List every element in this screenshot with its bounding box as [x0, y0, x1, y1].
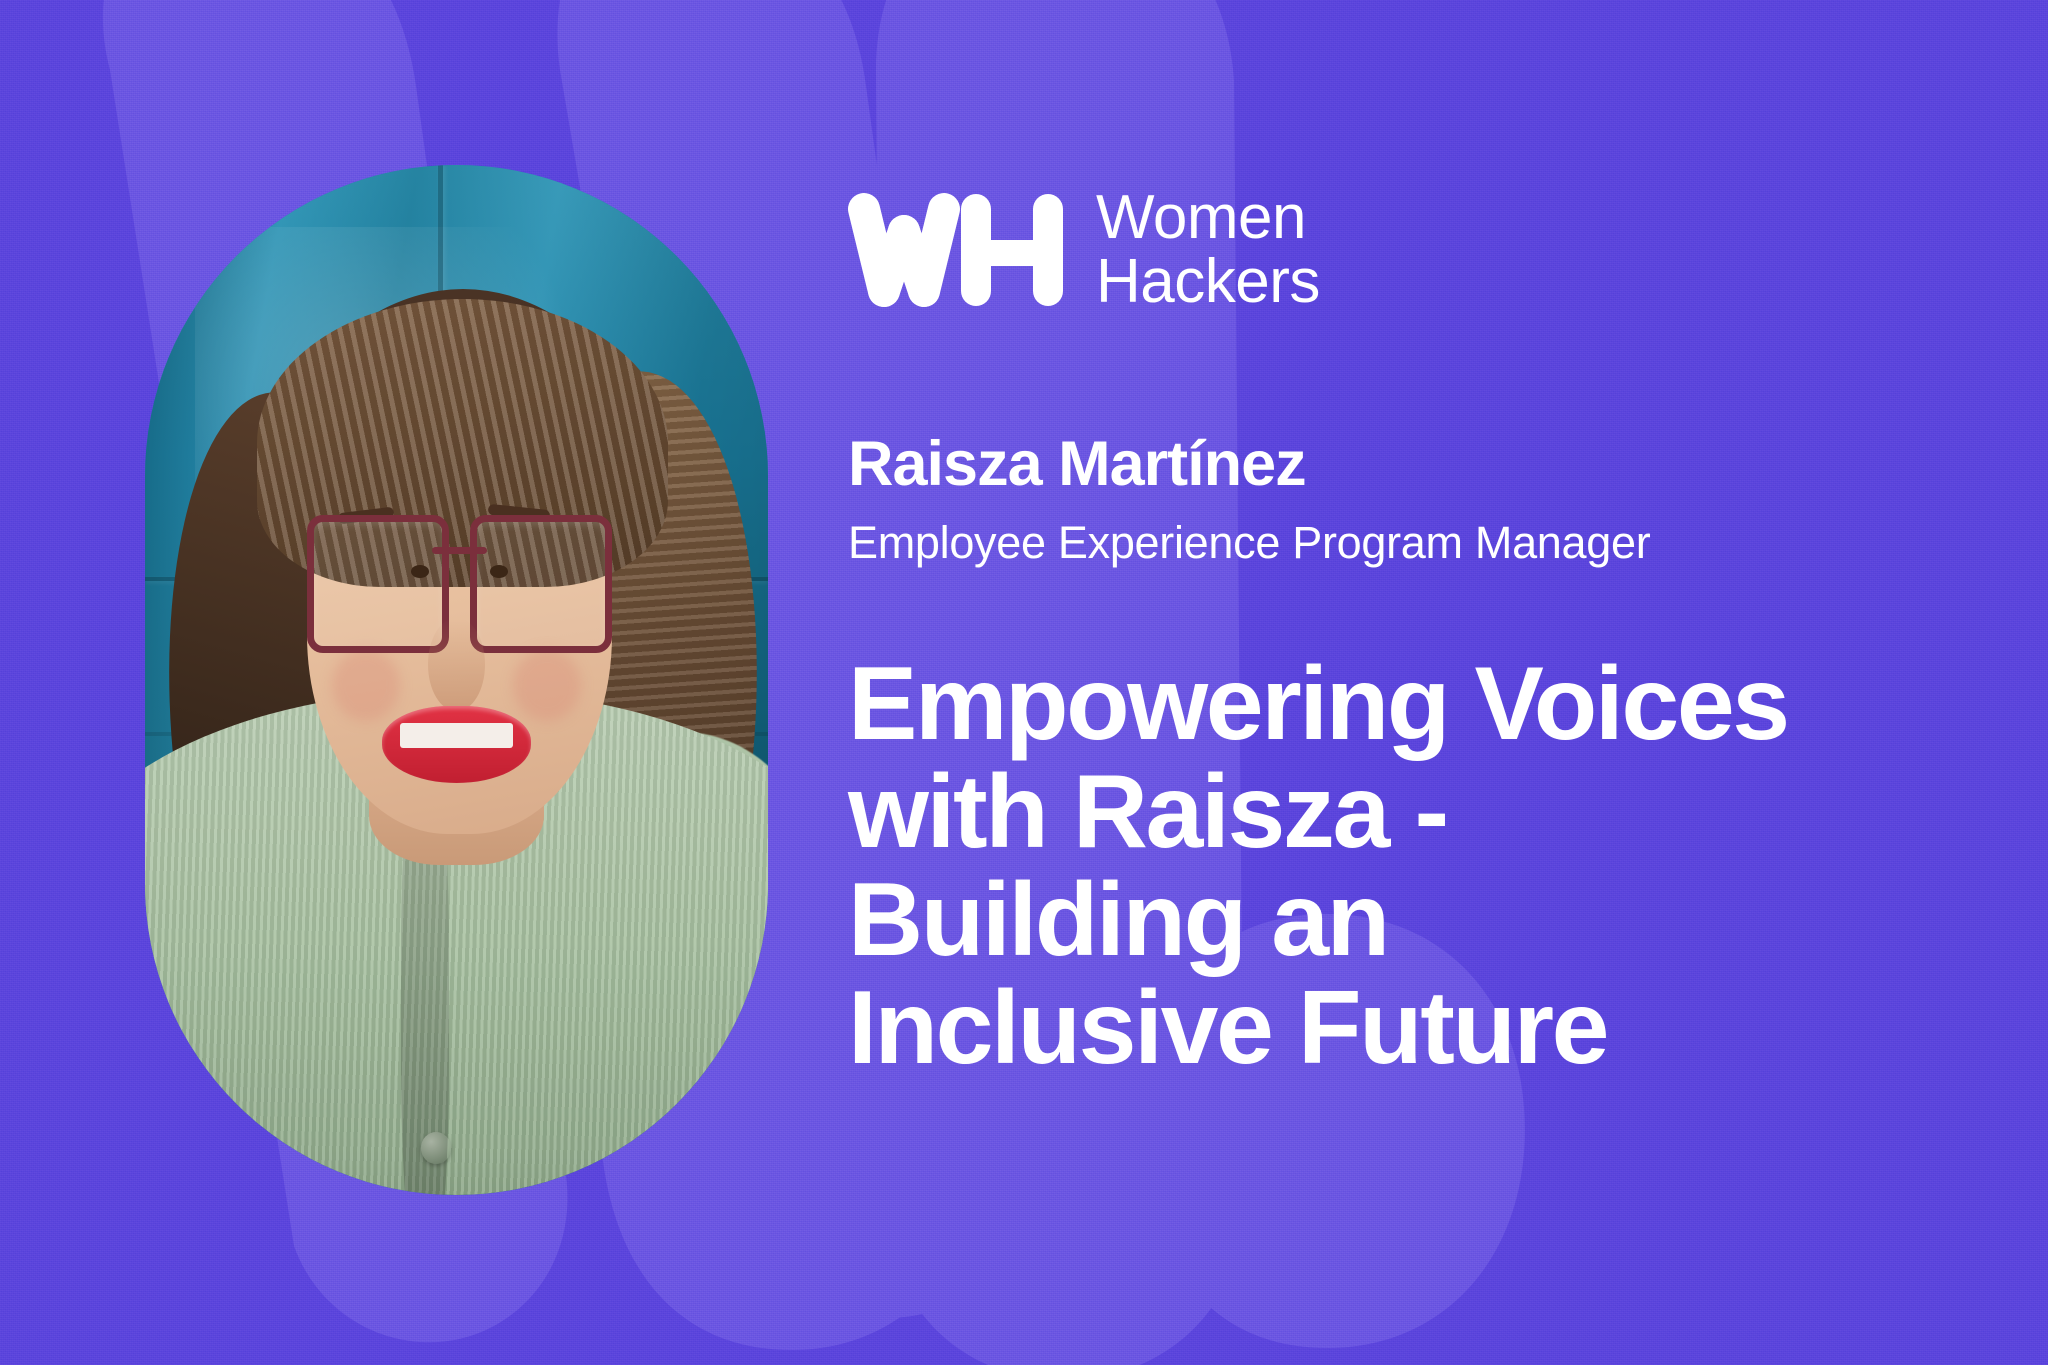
speaker-block: Raisza Martínez Employee Experience Prog… [848, 430, 1650, 572]
content-column: Women Hackers Raisza Martínez Employee E… [848, 0, 1988, 1365]
speaker-role: Employee Experience Program Manager [848, 515, 1650, 571]
cheek-left [332, 649, 401, 721]
promo-card: Women Hackers Raisza Martínez Employee E… [0, 0, 2048, 1365]
cheek-right [513, 649, 582, 721]
speaker-name: Raisza Martínez [848, 430, 1650, 499]
wh-monogram-icon [848, 187, 1066, 313]
lens-right [470, 515, 612, 653]
page-title: Empowering Voices with Raisza - Building… [848, 650, 1968, 1083]
nose [428, 618, 484, 711]
brand-wordmark: Women Hackers [1096, 186, 1320, 314]
glasses-bridge [432, 547, 487, 554]
speaker-photo [145, 165, 768, 1195]
teeth [400, 723, 512, 748]
eye-right [490, 565, 508, 578]
lens-left [307, 515, 449, 653]
eye-left [411, 565, 429, 578]
blouse-button-upper [421, 1132, 451, 1164]
brand-logo: Women Hackers [848, 186, 1320, 314]
